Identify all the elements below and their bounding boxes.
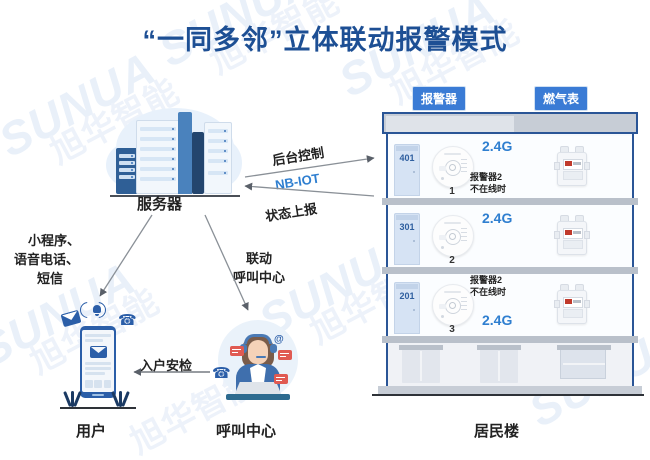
offline-note-201-line1: 报警器2 [470, 275, 502, 286]
offline-note-201-line2: 不在线时 [470, 287, 506, 298]
door-knob-icon [413, 171, 415, 173]
building-roof [382, 112, 638, 134]
headset-icon [244, 334, 272, 344]
user-illustration: ☎ [58, 300, 138, 415]
gas-meter-icon [554, 215, 588, 255]
wireless-label-401: 2.4G [482, 138, 512, 154]
backend-control-label: 后台控制 [271, 142, 325, 169]
room-number: 301 [395, 222, 419, 232]
linkage-label-line1: 联动 [246, 248, 272, 267]
apartment-door[interactable]: 201 [394, 282, 420, 334]
chat-bubble-icon [278, 350, 292, 360]
chat-bubble-icon [230, 346, 244, 356]
floor-divider [382, 267, 638, 274]
server-rack-icon [116, 148, 138, 194]
phone-screen [82, 330, 114, 392]
server-rack-icon [136, 120, 180, 194]
building-ground-line [372, 394, 644, 396]
grass-decor [114, 389, 130, 407]
door-knob-icon [413, 240, 415, 242]
gas-meter-icon [554, 284, 588, 324]
headset-mic [256, 356, 266, 358]
wireless-label-301: 2.4G [482, 210, 512, 226]
call-center-illustration: ☎ @ [212, 320, 304, 412]
page-title: “一同多邻”立体联动报警模式 [0, 18, 650, 57]
phone-home-indicator [92, 394, 104, 396]
notify-channels-line2: 语音电话、 [14, 249, 79, 268]
gas-alarm-detector-icon [432, 215, 474, 257]
building-label: 居民楼 [474, 420, 519, 441]
ground-window [560, 349, 606, 379]
server-label: 服务器 [137, 193, 182, 214]
headset-earcup [270, 344, 277, 353]
protocol-label: NB-IOT [274, 171, 321, 193]
offline-note-401-line2: 不在线时 [470, 184, 506, 195]
message-envelope-icon [90, 346, 107, 358]
badge-meter: 燃气表 [534, 86, 588, 111]
apartment-door[interactable]: 401 [394, 144, 420, 196]
smartphone-icon [80, 326, 116, 398]
offline-note-401-line1: 报警器2 [470, 172, 502, 183]
diagram-canvas: SUNUA 旭华智能 SUNUA 旭华智能 SUNUA 旭华智能 SUNUA 旭… [0, 0, 650, 460]
alarm-index-label: 3 [432, 324, 472, 335]
desk-shape [226, 394, 290, 400]
phone-handset-icon: ☎ [212, 364, 231, 382]
ground-window [480, 349, 518, 383]
at-sign-icon: @ [274, 334, 284, 345]
notify-channels-line1: 小程序、 [28, 230, 80, 249]
chat-bubble-icon [274, 374, 288, 384]
room-number: 201 [395, 291, 419, 301]
call-center-label: 呼叫中心 [216, 420, 276, 441]
user-label: 用户 [76, 420, 106, 441]
alarm-index-label: 1 [432, 186, 472, 197]
building-base-step [378, 386, 642, 394]
alarm-index-label: 2 [432, 255, 472, 266]
server-tower-dark-icon [192, 132, 204, 194]
server-tower-icon [178, 112, 192, 194]
floor-divider [382, 336, 638, 343]
linkage-label-line2: 呼叫中心 [233, 267, 285, 286]
building-ground-floor [388, 343, 632, 388]
apartment-door[interactable]: 301 [394, 213, 420, 265]
gas-alarm-detector-icon [432, 146, 474, 188]
phone-handset-icon: ☎ [118, 314, 130, 328]
ground-window [402, 349, 440, 383]
status-report-label: 状态上报 [264, 198, 318, 225]
gas-meter-icon [554, 146, 588, 186]
floor-divider [382, 198, 638, 205]
notify-channels-line3: 短信 [37, 268, 63, 287]
server-rack-icon [204, 122, 232, 194]
door-knob-icon [413, 309, 415, 311]
badge-alarm: 报警器 [412, 86, 466, 111]
ground-line [60, 407, 136, 409]
home-inspection-label: 入户安检 [140, 355, 192, 374]
wireless-label-201: 2.4G [482, 312, 512, 328]
room-number: 401 [395, 153, 419, 163]
grass-decor [66, 389, 82, 407]
envelope-icon [61, 310, 82, 327]
gas-alarm-detector-icon [432, 284, 474, 326]
bell-icon [91, 304, 103, 316]
